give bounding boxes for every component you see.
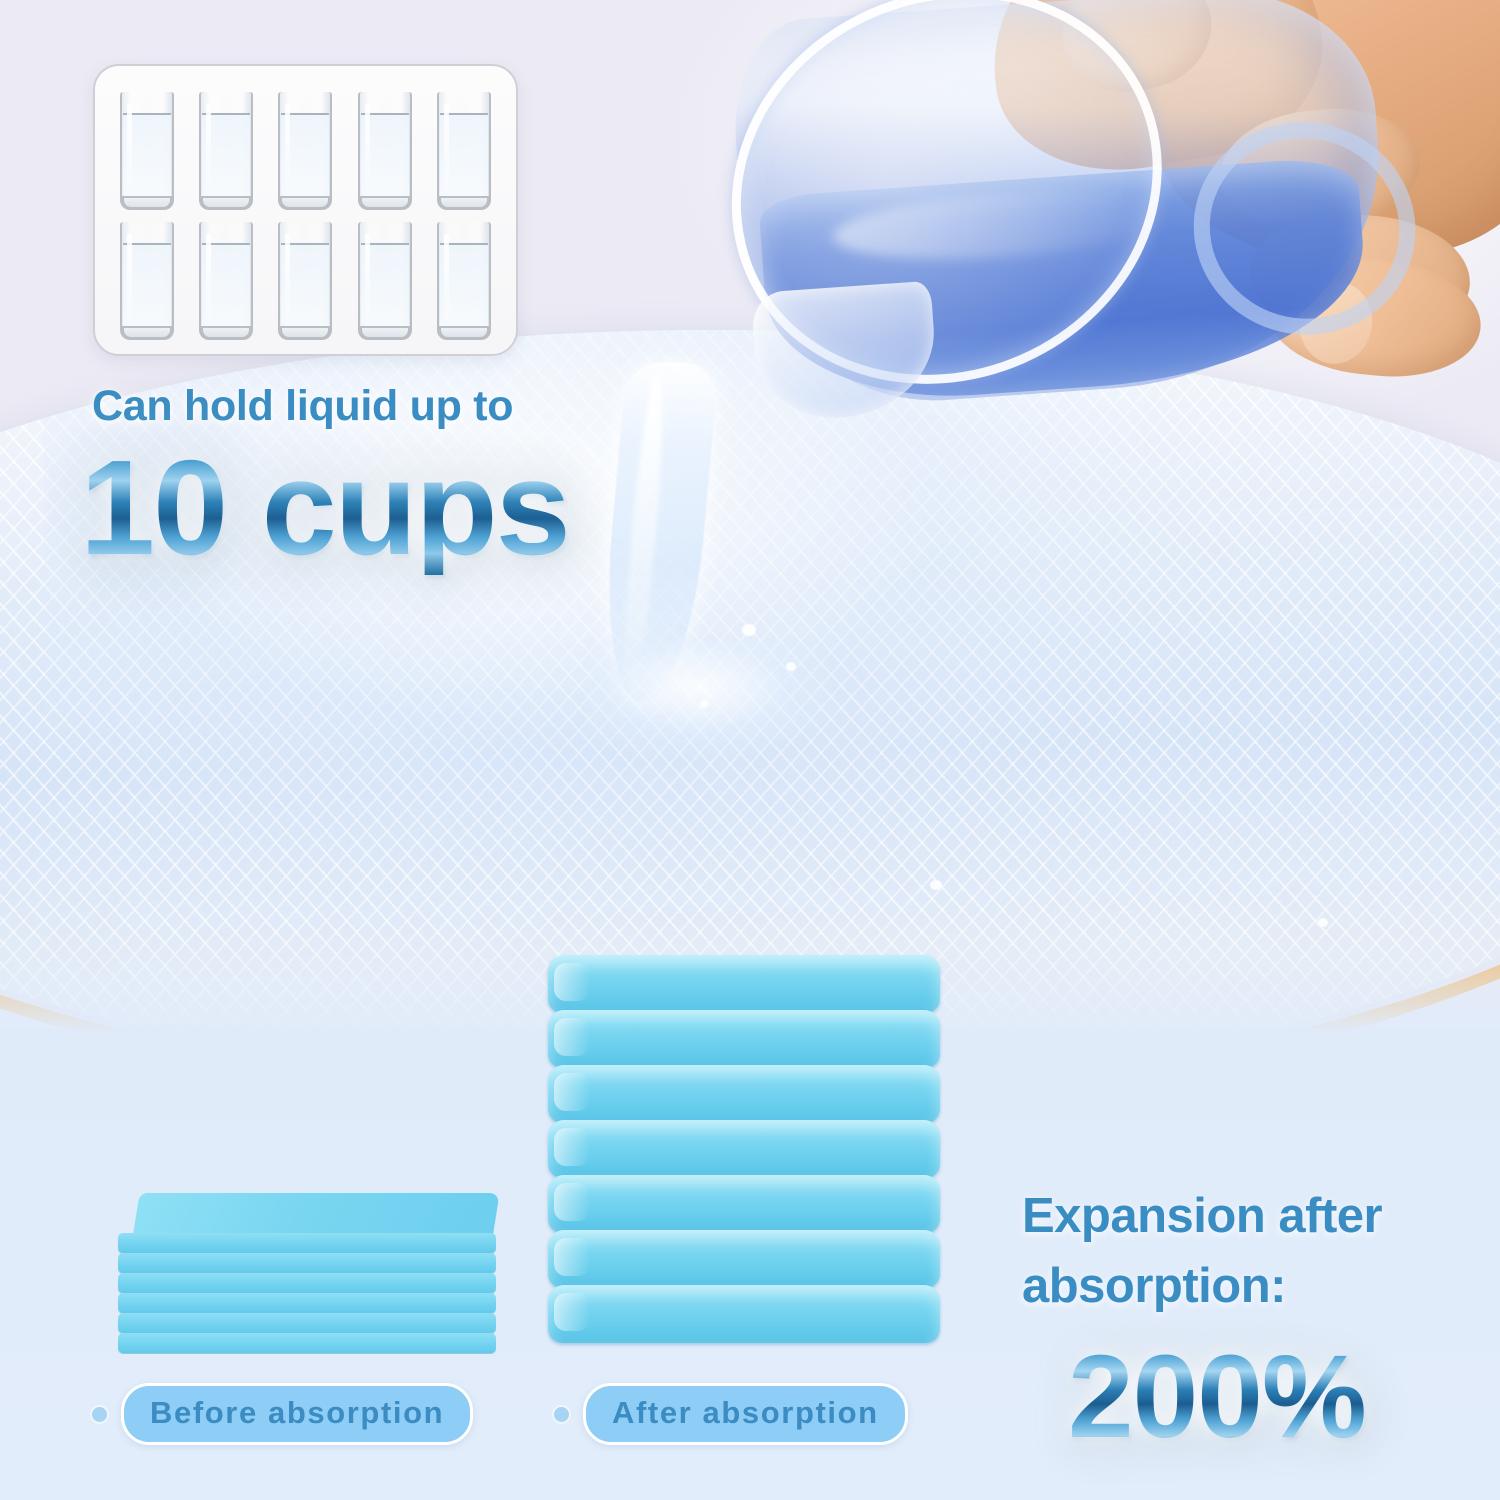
pad-layer [548,1120,940,1178]
pad-layer [118,1313,496,1333]
expansion-percent-value: 200% [1068,1338,1366,1456]
water-droplet [742,624,756,636]
bullet-dot-icon [554,1407,569,1422]
expansion-claim-line1: Expansion after [1022,1182,1482,1252]
before-absorption-label: Before absorption [121,1383,473,1445]
pad-layer [548,1285,940,1343]
pad-layer [118,1333,496,1353]
pad-stack-after [548,955,948,1355]
water-glass [120,222,174,340]
pad-layer [548,1010,940,1068]
before-absorption-legend: Before absorption [92,1383,473,1445]
expansion-claim: Expansion after absorption: [1022,1182,1482,1321]
capacity-headline: Can hold liquid up to [92,382,513,431]
hand-holding-pitcher [660,0,1500,440]
water-glass [437,92,491,210]
ten-cups-infographic [93,64,518,356]
water-glass [120,92,174,210]
pad-layer [118,1253,496,1273]
water-glass [199,92,253,210]
glass-pitcher-with-blue-liquid [706,0,1454,425]
expansion-claim-line2: absorption: [1022,1252,1482,1322]
water-splash [586,640,836,760]
pad-layer [548,1230,940,1288]
capacity-value: 10 cups [80,440,569,575]
glass-row-top [107,80,504,210]
glass-row-bottom [107,210,504,340]
pitcher-spout [751,281,940,423]
pad-layer [548,1175,940,1233]
water-glass [278,92,332,210]
water-glass [358,92,412,210]
water-glass [437,222,491,340]
water-glass [358,222,412,340]
water-droplet [700,700,708,708]
after-absorption-label: After absorption [583,1383,908,1445]
water-glass [278,222,332,340]
water-droplet [786,662,796,671]
water-glass [199,222,253,340]
bullet-dot-icon [92,1407,107,1422]
pad-layer [118,1293,496,1313]
pad-layer [118,1233,496,1253]
pad-stack-before [118,1193,513,1353]
after-absorption-legend: After absorption [554,1383,908,1445]
pad-layer [118,1273,496,1293]
pad-layer [548,955,940,1013]
product-infographic-poster: Can hold liquid up to 10 cups Before abs… [0,0,1500,1500]
pad-layer [548,1065,940,1123]
